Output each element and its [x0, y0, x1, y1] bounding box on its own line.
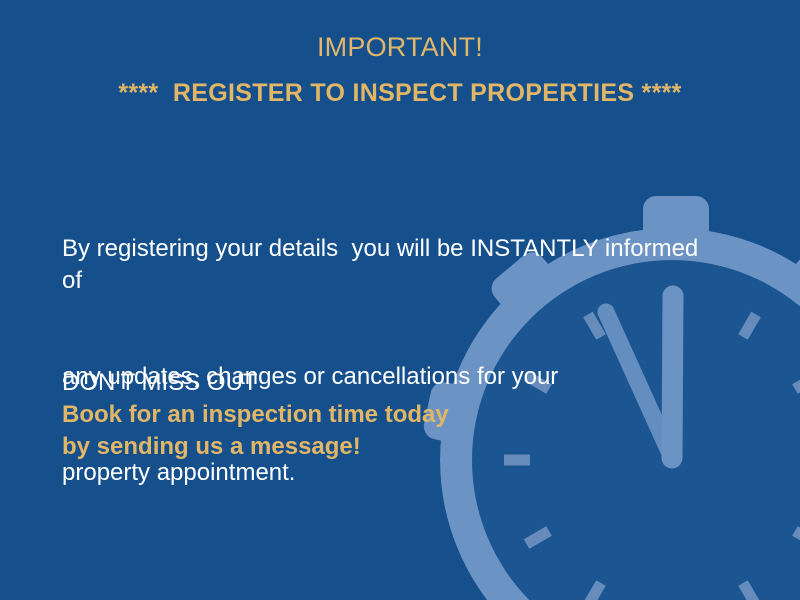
headline-group: IMPORTANT! **** REGISTER TO INSPECT PROP…	[0, 30, 800, 110]
cta-book-inspection: Book for an inspection time today	[62, 399, 562, 431]
call-to-action: DON’T MISS OUT Book for an inspection ti…	[62, 367, 562, 463]
paragraph-registering-details: By registering your details you will be …	[62, 169, 722, 553]
headline-register: **** REGISTER TO INSPECT PROPERTIES ****	[0, 76, 800, 110]
paragraph-no-registrations: If no one registers for an inspection ti…	[62, 589, 722, 600]
headline-important: IMPORTANT!	[0, 30, 800, 64]
slide-content: IMPORTANT! **** REGISTER TO INSPECT PROP…	[0, 0, 800, 600]
cta-dont-miss-out: DON’T MISS OUT	[62, 367, 562, 399]
promo-slide: IMPORTANT! **** REGISTER TO INSPECT PROP…	[0, 0, 800, 600]
paragraph-1-line-1: By registering your details you will be …	[62, 233, 722, 297]
cta-send-message: by sending us a message!	[62, 431, 562, 463]
